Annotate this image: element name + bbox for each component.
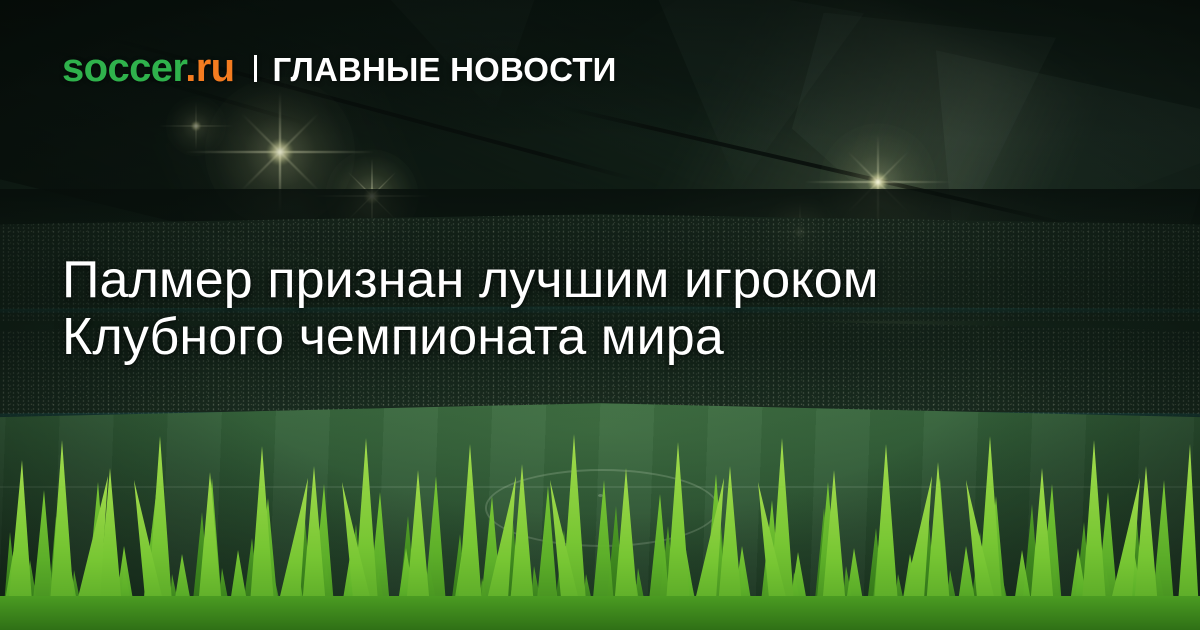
brand-divider	[254, 55, 257, 82]
site-logo-suffix: .ru	[185, 46, 234, 90]
news-share-card: soccer.ru ГЛАВНЫЕ НОВОСТИ Палмер признан…	[0, 0, 1200, 630]
site-logo[interactable]: soccer.ru	[62, 48, 235, 88]
foreground-grass	[0, 420, 1200, 630]
section-label: ГЛАВНЫЕ НОВОСТИ	[273, 53, 617, 86]
site-logo-primary: soccer	[62, 46, 185, 90]
brand-bar: soccer.ru ГЛАВНЫЕ НОВОСТИ	[62, 48, 617, 88]
article-headline: Палмер признан лучшим игроком Клубного ч…	[62, 252, 1062, 366]
